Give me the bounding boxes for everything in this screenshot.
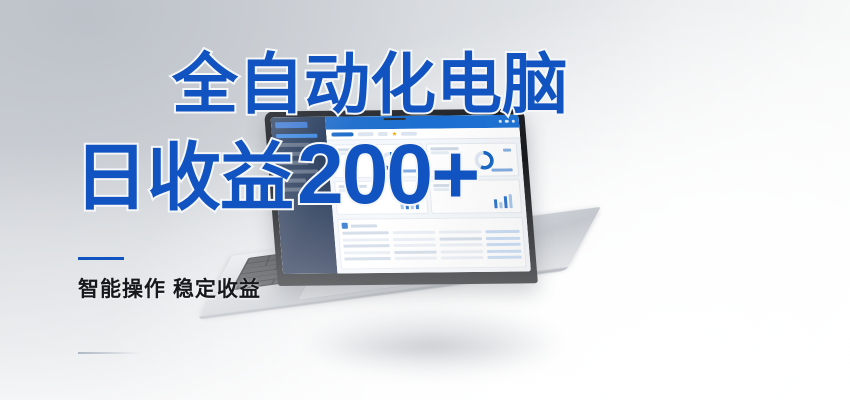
table-cell <box>342 231 389 234</box>
table-cell <box>344 251 391 254</box>
table-row[interactable] <box>342 230 519 235</box>
table-icon <box>342 223 349 229</box>
table-cell <box>487 249 521 252</box>
table-cell <box>440 243 483 246</box>
accent-rule-top <box>78 257 124 260</box>
bar <box>504 197 508 208</box>
laptop-contact-shadow <box>276 328 576 368</box>
table-cell <box>439 230 482 233</box>
table-cell <box>487 243 521 246</box>
table-cell <box>395 257 438 260</box>
data-table[interactable] <box>337 217 526 270</box>
table-row[interactable] <box>344 256 521 261</box>
headline-line-2: 日收益200+ <box>74 132 478 220</box>
table-cell <box>440 237 483 240</box>
headline-earnings-number: 200+ <box>297 127 478 221</box>
table-cell <box>488 256 522 259</box>
table-row[interactable] <box>343 243 520 248</box>
table-title <box>351 224 377 227</box>
table-cell <box>343 238 390 241</box>
banner-stage: 全自动化电脑 日收益200+ 智能操作 稳定收益 <box>0 0 850 400</box>
bar-chart <box>493 192 512 208</box>
bar <box>499 203 502 209</box>
accent-rule-bottom <box>78 352 140 354</box>
bar <box>494 200 498 209</box>
table-cell <box>486 230 520 233</box>
table-cell <box>441 256 484 259</box>
table-cell <box>441 250 484 253</box>
subtitle: 智能操作 稳定收益 <box>78 273 261 303</box>
table-cell <box>486 236 520 239</box>
table-cell <box>394 250 437 253</box>
trend-arrow-icon <box>503 149 511 152</box>
table-cell <box>343 244 390 247</box>
table-cell <box>393 231 436 234</box>
headline-line-1: 全自动化电脑 <box>172 46 568 122</box>
card-value <box>491 168 513 171</box>
table-cell <box>344 257 391 260</box>
table-header <box>342 221 520 229</box>
bar <box>509 194 513 208</box>
table-row[interactable] <box>344 249 521 254</box>
table-cell <box>394 244 437 247</box>
table-row[interactable] <box>343 236 520 241</box>
table-cell <box>393 237 436 240</box>
headline-line-2-text: 日收益 <box>74 136 293 219</box>
